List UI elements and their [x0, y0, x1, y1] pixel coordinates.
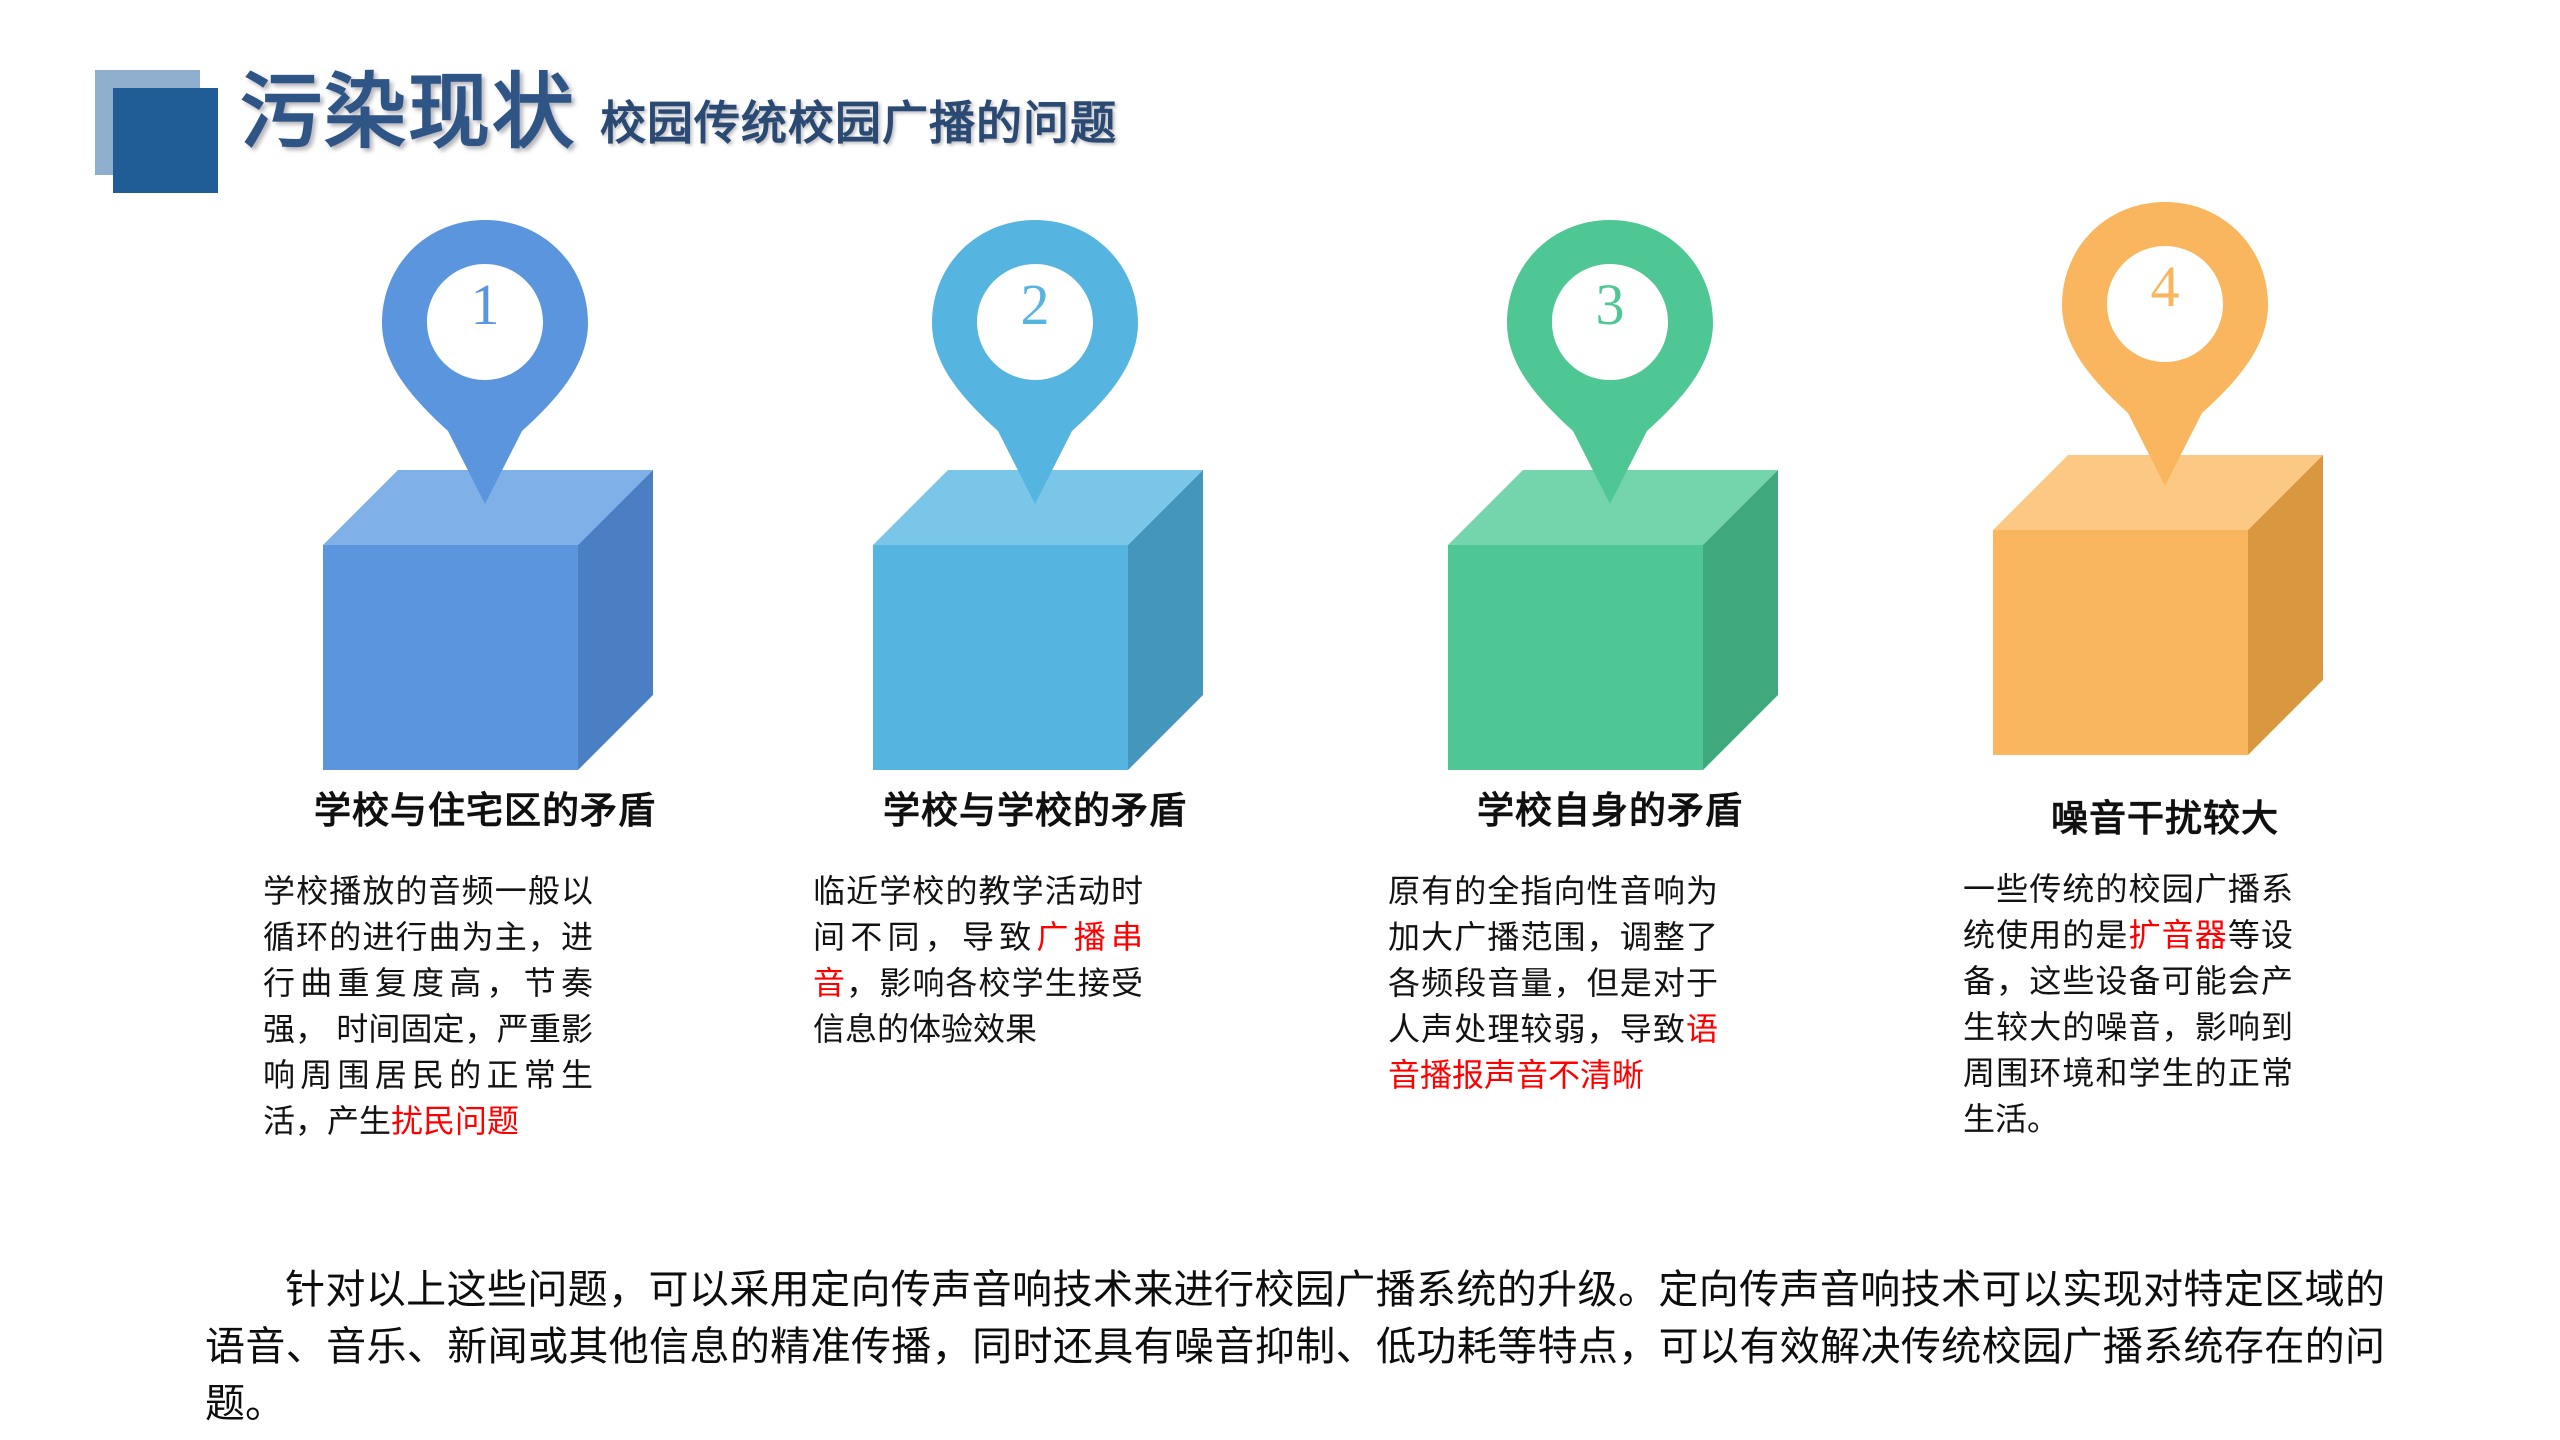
pin-marker-1: 1: [205, 218, 765, 518]
column-body-2: 临近学校的教学活动时间不同，导致广播串音，影响各校学生接受信息的体验效果: [813, 868, 1143, 1052]
pin-number-2: 2: [930, 276, 1140, 334]
pin-marker-2: 2: [755, 218, 1315, 518]
pin-number-1: 1: [380, 276, 590, 334]
column-title-3: 学校自身的矛盾: [1330, 792, 1890, 829]
column-body-text-3: 原有的全指向性音响为加大广播范围，调整了各频段音量，但是对于人声处理较弱，导致: [1388, 873, 1718, 1047]
column-body-3: 原有的全指向性音响为加大广播范围，调整了各频段音量，但是对于人声处理较弱，导致语…: [1388, 868, 1718, 1098]
cube-shape-4: [1993, 455, 2323, 755]
pin-marker-3: 3: [1330, 218, 1890, 518]
column-body-tail-2: ，影响各校学生接受信息的体验效果: [813, 965, 1143, 1047]
column-highlight-1: 扰民问题: [391, 1103, 519, 1139]
column-body-text-1: 学校播放的音频一般以循环的进行曲为主，进行曲重复度高，节奏强， 时间固定，严重影…: [263, 873, 593, 1139]
header-square-front-icon: [113, 88, 218, 193]
page-subtitle: 校园传统校园广播的问题: [600, 100, 1117, 146]
column-highlight-4: 扩音器: [2129, 917, 2228, 953]
column-title-1: 学校与住宅区的矛盾: [205, 792, 765, 829]
slide-header: 污染现状 校园传统校园广播的问题: [0, 0, 2560, 210]
pin-number-3: 3: [1505, 276, 1715, 334]
pin-number-4: 4: [2060, 258, 2270, 316]
column-title-2: 学校与学校的矛盾: [755, 792, 1315, 829]
slide-canvas: 污染现状 校园传统校园广播的问题 1 学校与住宅区的矛盾 学校播放的音频一般以循…: [0, 0, 2560, 1440]
page-title: 污染现状: [240, 72, 576, 154]
column-body-1: 学校播放的音频一般以循环的进行曲为主，进行曲重复度高，节奏强， 时间固定，严重影…: [263, 868, 593, 1144]
pin-marker-4: 4: [1885, 200, 2445, 500]
summary-paragraph: 针对以上这些问题，可以采用定向传声音响技术来进行校园广播系统的升级。定向传声音响…: [205, 1262, 2385, 1432]
column-title-4: 噪音干扰较大: [1885, 800, 2445, 837]
column-body-4: 一些传统的校园广播系统使用的是扩音器等设备，这些设备可能会产生较大的噪音，影响到…: [1963, 866, 2293, 1142]
